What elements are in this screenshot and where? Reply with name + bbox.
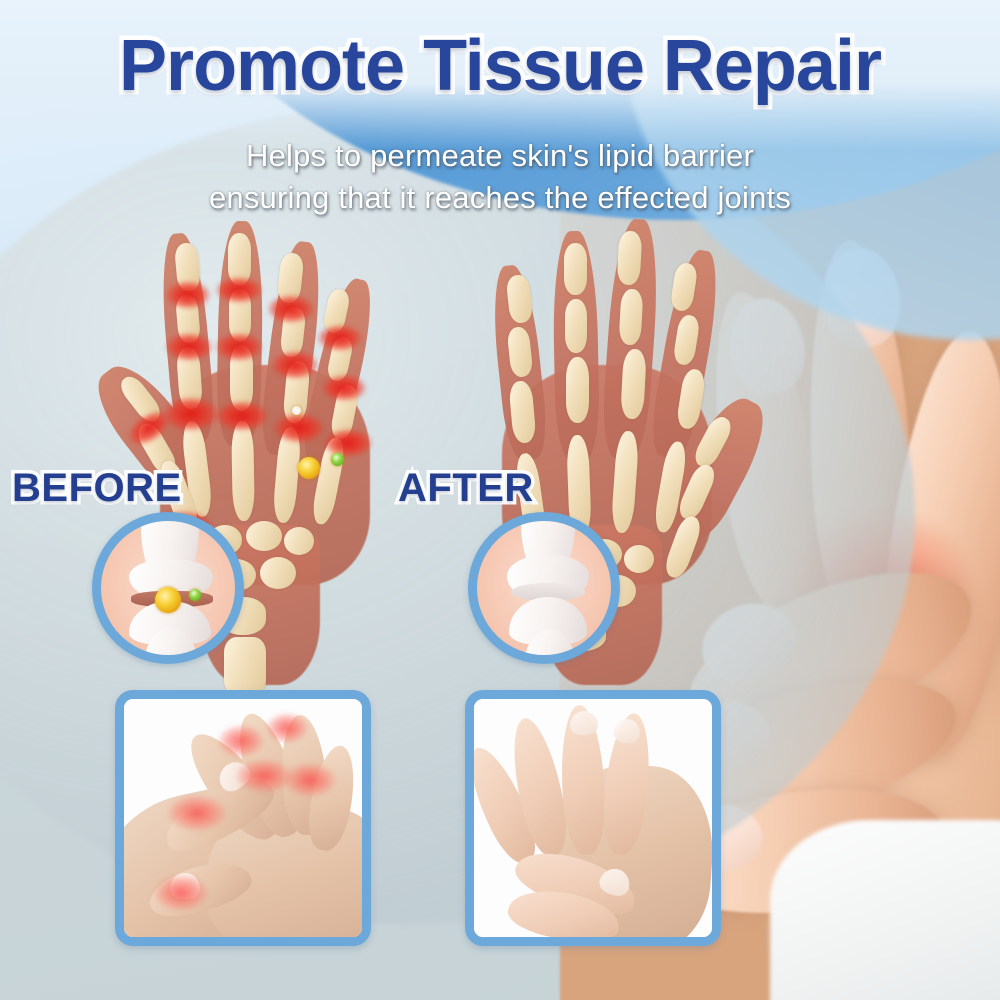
crystal-deposit-green: [331, 453, 344, 466]
after-photo-frame: [465, 690, 721, 946]
before-joint-closeup: [92, 512, 244, 664]
after-joint-closeup: [468, 512, 620, 664]
background-sleeve: [770, 820, 1000, 1000]
promotional-poster: Promote Tissue Repair Helps to permeate …: [0, 0, 1000, 1000]
subtitle-line-2: ensuring that it reaches the effected jo…: [0, 180, 1000, 216]
subtitle-line-1: Helps to permeate skin's lipid barrier: [0, 138, 1000, 174]
crystal-deposit: [298, 457, 320, 479]
after-label: AFTER: [398, 466, 534, 511]
before-photo-frame: [115, 690, 371, 946]
before-label: BEFORE: [12, 466, 182, 511]
page-title: Promote Tissue Repair: [0, 30, 1000, 102]
